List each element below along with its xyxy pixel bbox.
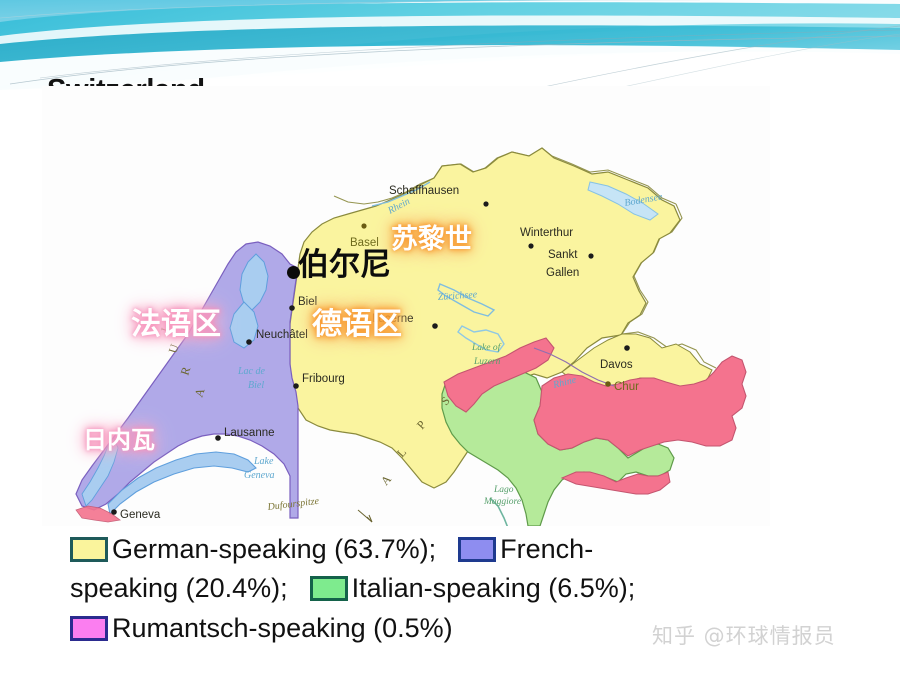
city-dot-sankt-gallen [588,253,593,258]
legend-swatch-german [70,537,108,562]
water-label-lake-of: Lake of [471,342,502,353]
city-label-winterthur: Winterthur [520,227,573,239]
city-label-gallen: Gallen [546,267,579,279]
city-dot-winterthur [528,243,533,248]
range-letter-u: U [166,341,182,355]
city-label-sankt: Sankt [548,249,578,261]
city-dot-neuchatel [246,339,252,345]
city-dot-lausanne [215,435,221,441]
slide-canvas: Switzerland [0,0,900,675]
city-label-lausanne: Lausanne [224,427,275,439]
legend-row-2: speaking (20.4%);Italian-speaking (6.5%)… [70,569,770,608]
legend-label-rumantsch: Rumantsch-speaking (0.5%) [112,613,453,643]
city-label-davos: Davos [600,359,633,371]
water-label-maggiore: Maggiore [483,497,521,507]
city-dot-geneva [111,509,117,515]
city-dot-basel [361,223,366,228]
city-label-schaffhausen: Schaffhausen [389,185,459,197]
switzerland-language-map: J U R A A L P S Bodensee Zürichsee Lac d… [42,86,770,526]
city-dot-fribourg [293,383,299,389]
water-label-biel-lake: Biel [248,380,264,391]
legend-label-french-part2: speaking (20.4%); [70,573,288,603]
water-label-lac-de: Lac de [237,366,266,377]
water-label-lago: Lago [493,485,514,495]
water-label-lake: Lake [253,456,274,467]
map-overlay-label-french-region: 法语区 [131,310,221,340]
city-dot-davos [624,345,630,351]
range-letter-a2: A [378,471,395,488]
legend-row-1: German-speaking (63.7%);French- [70,530,770,569]
legend-swatch-rumantsch [70,616,108,641]
legend-swatch-italian [310,576,348,601]
map-overlay-label-bern: 伯尔尼 [298,250,391,281]
city-label-geneva: Geneva [120,509,161,521]
city-dot-chur [605,381,611,387]
legend-swatch-french [458,537,496,562]
city-dot-schaffhausen [483,201,488,206]
watermark-text: 知乎 @环球情报员 [652,620,836,650]
city-label-fribourg: Fribourg [302,373,345,385]
city-label-chur: Chur [614,381,639,393]
map-overlay-label-zurich: 苏黎世 [391,226,472,253]
water-label-luzern: Luzern [473,357,501,367]
legend-label-italian: Italian-speaking (6.5%); [352,573,636,603]
city-dot-biel [289,305,295,311]
city-label-neuchatel: Neuchâtel [256,329,308,341]
map-overlay-label-geneva: 日内瓦 [83,428,155,452]
legend-label-french-part1: French- [500,534,593,564]
legend-label-german: German-speaking (63.7%); [112,534,436,564]
map-overlay-label-german-region: 德语区 [312,310,402,340]
peak-label-group: Dufourspitze [266,496,372,522]
water-label-geneva-lake: Geneva [244,470,275,481]
city-dot-lucerne [432,323,438,329]
